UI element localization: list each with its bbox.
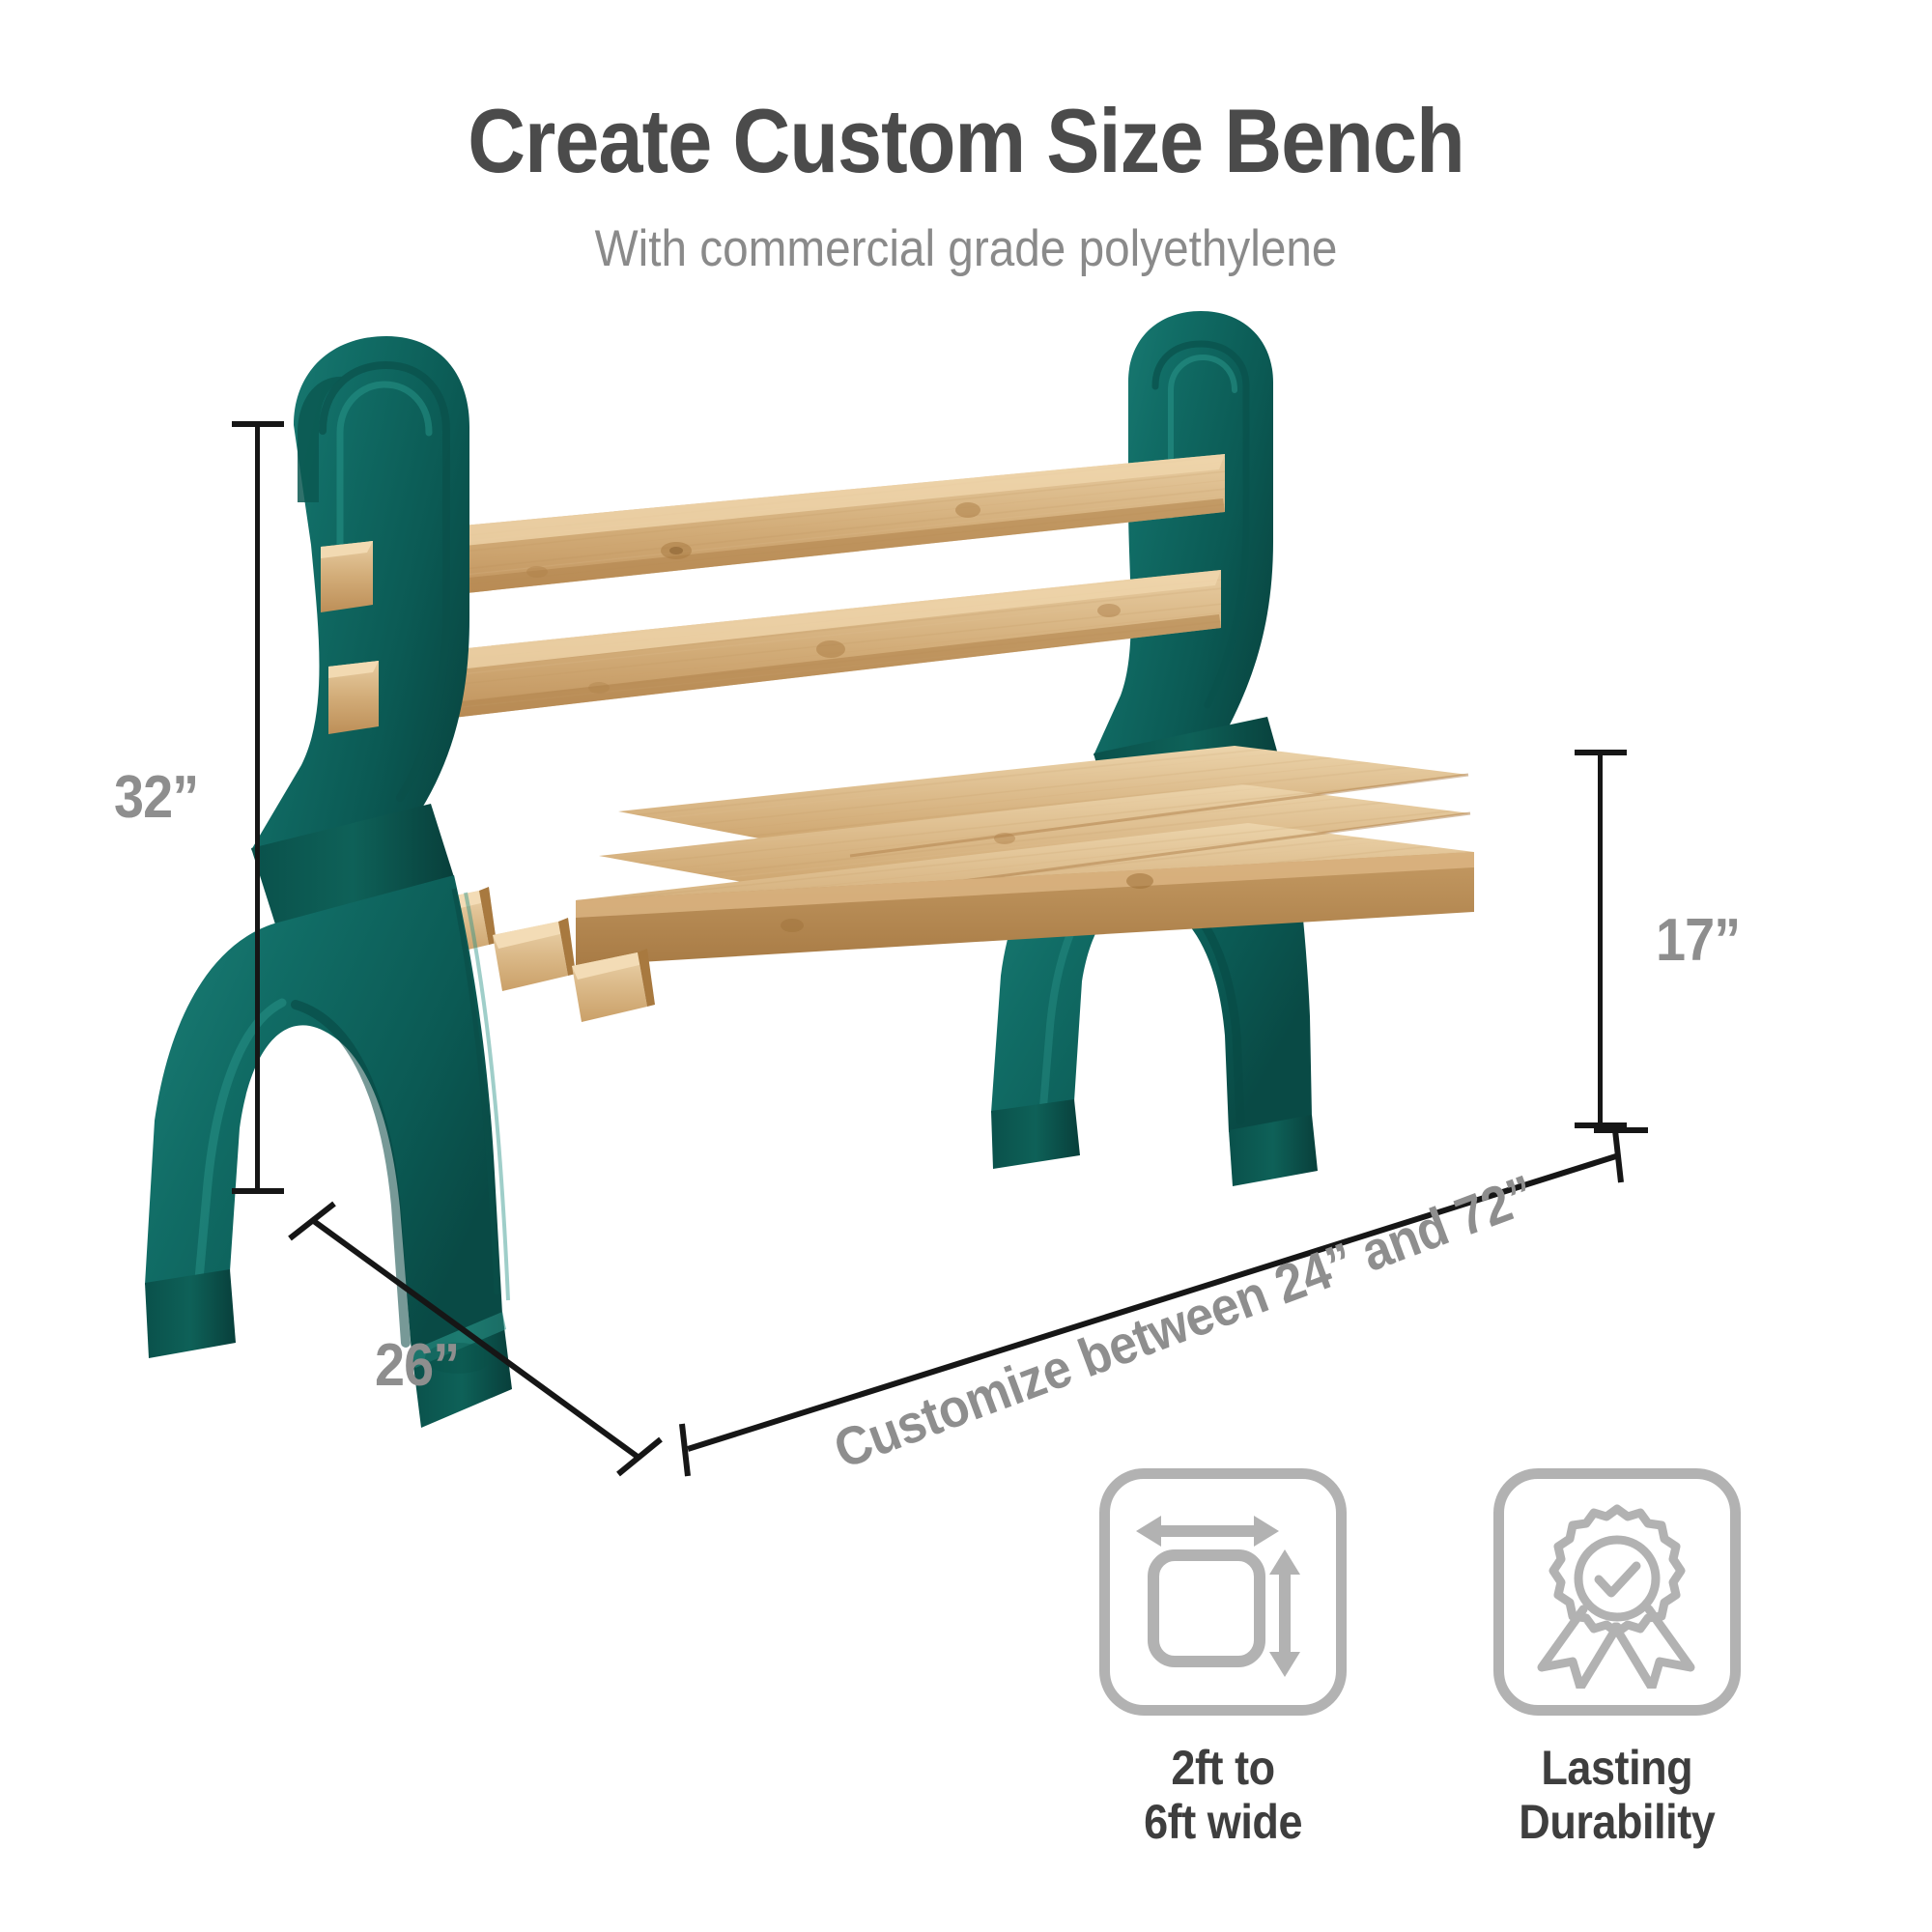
height-dimension-line [255, 421, 260, 1194]
height-dimension-tick-top [232, 421, 284, 427]
feature-durability-label: Lasting Durability [1519, 1741, 1715, 1849]
bench-seat-slats [576, 746, 1474, 966]
height-dimension-tick-bottom [232, 1188, 284, 1194]
resize-square-icon [1126, 1495, 1320, 1689]
feature-size-range-label: 2ft to 6ft wide [1144, 1741, 1302, 1849]
award-ribbon-check-icon [1522, 1495, 1712, 1689]
feature-durability: Lasting Durability [1447, 1468, 1787, 1913]
feature-durability-box [1493, 1468, 1741, 1716]
bench-backrest-slats [340, 454, 1225, 730]
seat-height-dimension-tick-top [1575, 750, 1627, 755]
bench-right-frame [991, 311, 1318, 1186]
feature-size-range-box [1099, 1468, 1347, 1716]
seat-height-dimension-line [1598, 750, 1603, 1128]
depth-dimension-label: 26” [375, 1331, 459, 1400]
infographic-canvas: Create Custom Size Bench With commercial… [0, 0, 1932, 1932]
seat-height-dimension-label: 17” [1656, 906, 1740, 975]
height-dimension-label: 32” [114, 763, 198, 832]
bench-left-frame [145, 336, 655, 1428]
seat-height-dimension-tick-bottom [1575, 1122, 1627, 1128]
feature-size-range: 2ft to 6ft wide [1053, 1468, 1393, 1913]
feature-badges: 2ft to 6ft wide [1053, 1468, 1787, 1913]
